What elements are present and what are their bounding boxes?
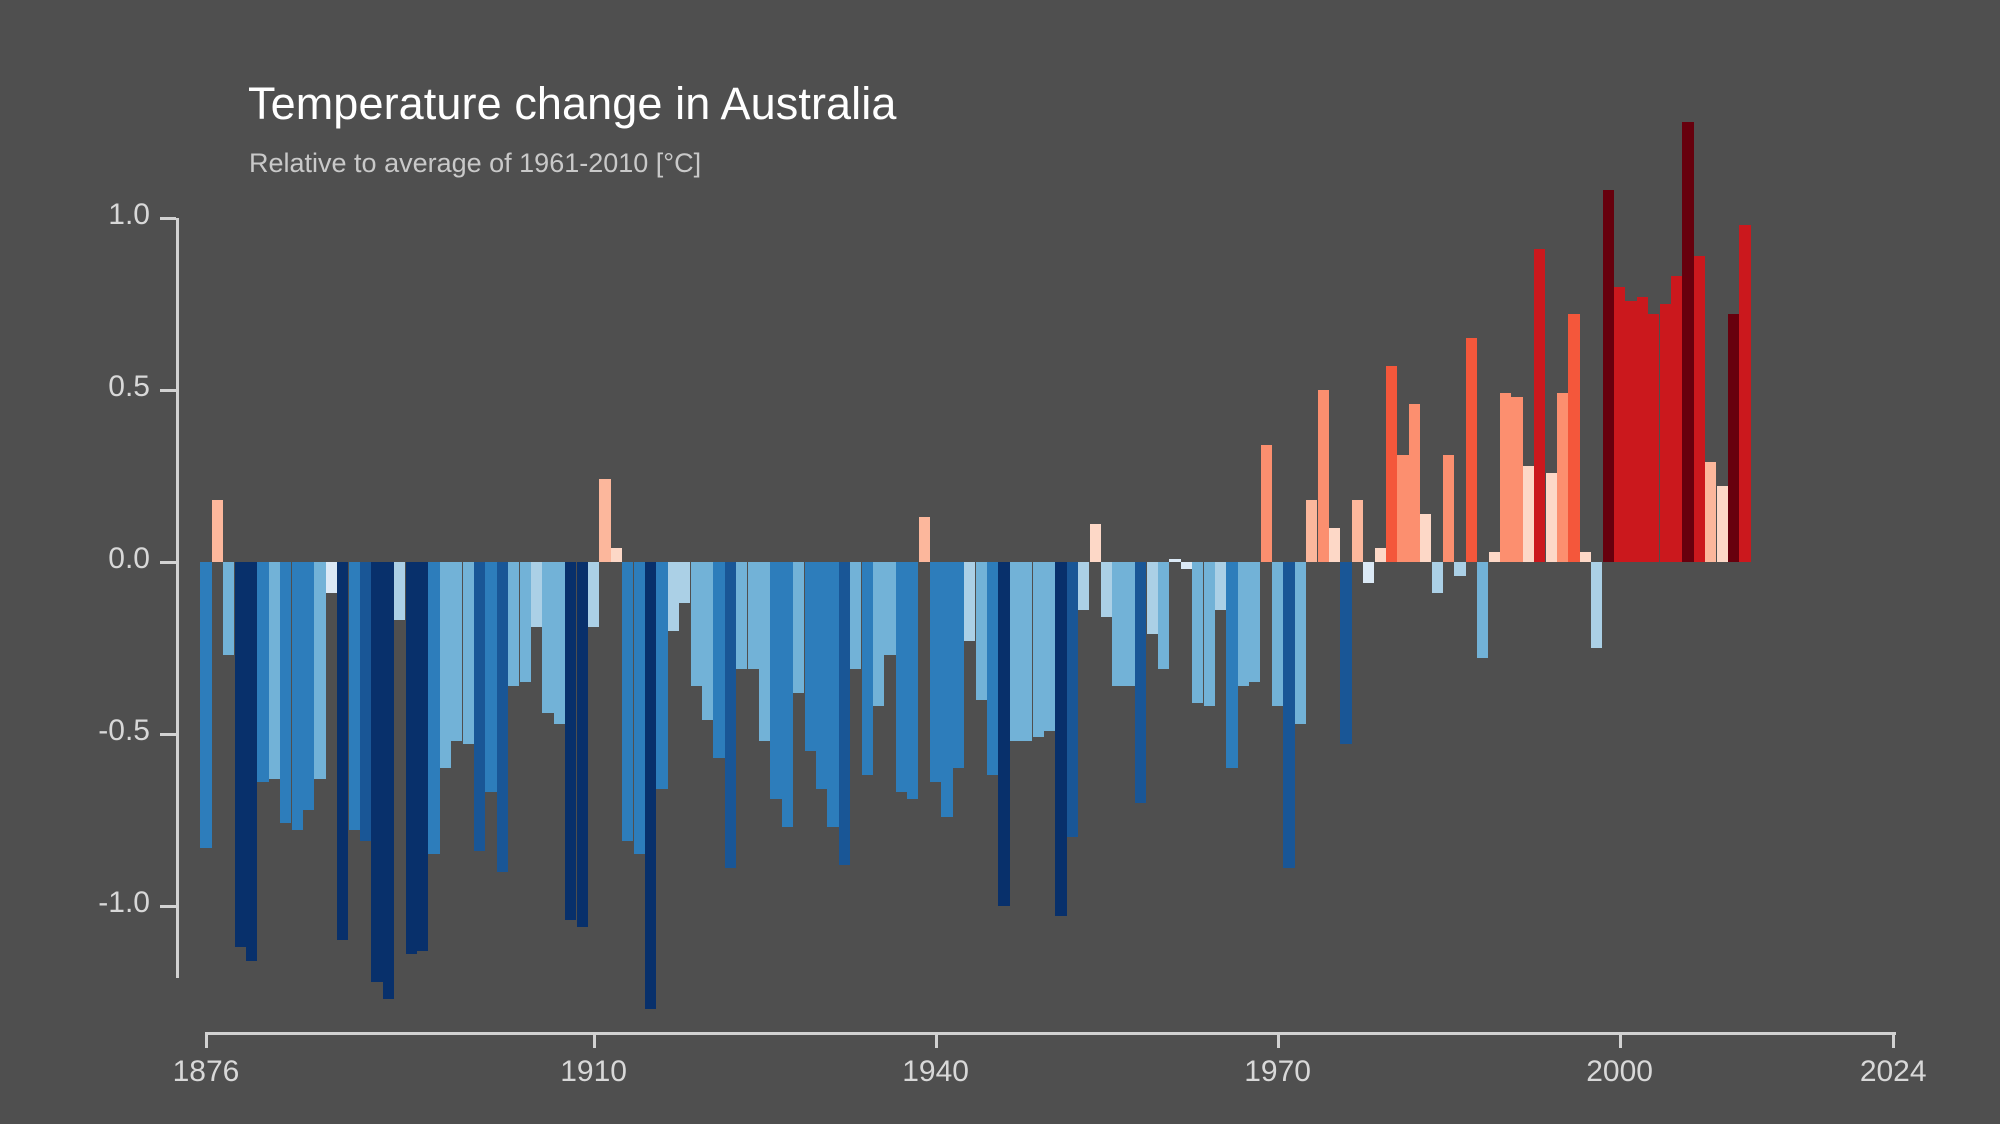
bar-2004 — [1660, 304, 1671, 562]
bar-1880 — [246, 562, 257, 961]
bar-1963 — [1192, 562, 1203, 703]
bar-1950 — [1044, 562, 1055, 731]
x-tick-2024 — [1892, 1032, 1895, 1048]
bar-1885 — [303, 562, 314, 810]
x-tick-label-1910: 1910 — [560, 1055, 627, 1089]
bar-1905 — [531, 562, 542, 627]
bar-1979 — [1375, 548, 1386, 562]
bar-1959 — [1147, 562, 1158, 634]
y-tick-label-0.5: 0.5 — [0, 370, 150, 404]
bar-1975 — [1329, 528, 1340, 562]
bar-1922 — [725, 562, 736, 868]
bar-1955 — [1101, 562, 1112, 617]
bar-1944 — [976, 562, 987, 700]
bar-1923 — [736, 562, 747, 669]
bar-1988 — [1477, 562, 1488, 658]
bar-1902 — [497, 562, 508, 872]
bar-1983 — [1420, 514, 1431, 562]
bar-1980 — [1386, 366, 1397, 562]
bar-1948 — [1021, 562, 1032, 741]
bar-1917 — [668, 562, 679, 631]
bar-1913 — [622, 562, 633, 841]
bar-1999 — [1603, 190, 1614, 562]
bar-1993 — [1534, 249, 1545, 562]
bar-1878 — [223, 562, 234, 655]
bar-1883 — [280, 562, 291, 823]
bar-1903 — [508, 562, 519, 686]
bar-1998 — [1591, 562, 1602, 648]
bar-1931 — [827, 562, 838, 827]
bar-1969 — [1261, 445, 1272, 562]
bar-1912 — [611, 548, 622, 562]
bar-1891 — [371, 562, 382, 982]
bar-1881 — [257, 562, 268, 782]
bar-1990 — [1500, 393, 1511, 562]
y-tick-label-0.0: 0.0 — [0, 542, 150, 576]
bar-2011 — [1739, 225, 1750, 562]
bar-1996 — [1568, 314, 1579, 562]
y-tick-1.0 — [160, 217, 176, 220]
bar-1925 — [759, 562, 770, 741]
bar-1897 — [440, 562, 451, 768]
bar-1974 — [1318, 390, 1329, 562]
bar-1884 — [292, 562, 303, 830]
bar-1960 — [1158, 562, 1169, 669]
bar-1943 — [964, 562, 975, 641]
x-tick-1876 — [205, 1032, 208, 1048]
bar-1932 — [839, 562, 850, 865]
bar-1953 — [1078, 562, 1089, 610]
bar-1916 — [656, 562, 667, 789]
bar-1965 — [1215, 562, 1226, 610]
bar-1981 — [1397, 455, 1408, 562]
bar-1898 — [451, 562, 462, 741]
bar-1958 — [1135, 562, 1146, 803]
y-tick-label--1.0: -1.0 — [0, 886, 150, 920]
bar-1929 — [805, 562, 816, 751]
bar-1938 — [907, 562, 918, 799]
bar-1933 — [850, 562, 861, 669]
bar-1949 — [1033, 562, 1044, 737]
bar-1957 — [1124, 562, 1135, 686]
bar-1997 — [1580, 552, 1591, 562]
bar-1906 — [542, 562, 553, 713]
bar-1954 — [1090, 524, 1101, 562]
bar-1970 — [1272, 562, 1283, 706]
bar-2002 — [1637, 297, 1648, 562]
bar-1926 — [770, 562, 781, 799]
bar-1904 — [520, 562, 531, 682]
bar-1966 — [1226, 562, 1237, 768]
bar-1968 — [1249, 562, 1260, 682]
bar-1910 — [588, 562, 599, 627]
bar-1879 — [235, 562, 246, 947]
bar-1986 — [1454, 562, 1465, 576]
x-tick-1910 — [593, 1032, 596, 1048]
bar-1895 — [417, 562, 428, 951]
bar-1952 — [1067, 562, 1078, 837]
bar-1956 — [1112, 562, 1123, 686]
bar-1937 — [896, 562, 907, 792]
y-tick-label--0.5: -0.5 — [0, 714, 150, 748]
bar-1928 — [793, 562, 804, 693]
bar-1889 — [349, 562, 360, 830]
bar-1921 — [713, 562, 724, 758]
bar-1886 — [314, 562, 325, 779]
bar-1946 — [998, 562, 1009, 906]
bar-1914 — [634, 562, 645, 854]
bar-1909 — [577, 562, 588, 927]
bar-1987 — [1466, 338, 1477, 562]
bar-2008 — [1705, 462, 1716, 562]
x-tick-2000 — [1619, 1032, 1622, 1048]
bar-1924 — [748, 562, 759, 669]
bar-1962 — [1181, 562, 1192, 569]
bar-1892 — [383, 562, 394, 999]
bar-1888 — [337, 562, 348, 940]
bar-1985 — [1443, 455, 1454, 562]
y-axis-spine — [176, 218, 179, 978]
bar-1941 — [941, 562, 952, 817]
bar-2006 — [1682, 122, 1693, 562]
bar-1940 — [930, 562, 941, 782]
bar-1899 — [463, 562, 474, 744]
bar-1945 — [987, 562, 998, 775]
bar-1877 — [212, 500, 223, 562]
bar-1915 — [645, 562, 656, 1009]
bar-1918 — [679, 562, 690, 603]
bar-1951 — [1055, 562, 1066, 916]
bar-1930 — [816, 562, 827, 789]
bar-1920 — [702, 562, 713, 720]
x-tick-label-2024: 2024 — [1860, 1055, 1927, 1089]
bar-1935 — [873, 562, 884, 706]
x-tick-label-1970: 1970 — [1244, 1055, 1311, 1089]
bar-2003 — [1648, 314, 1659, 562]
bar-1982 — [1409, 404, 1420, 562]
bar-1908 — [565, 562, 576, 920]
bar-1984 — [1432, 562, 1443, 593]
bar-1947 — [1010, 562, 1021, 741]
bar-1901 — [485, 562, 496, 792]
bar-1964 — [1204, 562, 1215, 706]
bar-2000 — [1614, 287, 1625, 562]
bar-1911 — [599, 479, 610, 562]
bar-1991 — [1511, 397, 1522, 562]
bar-1919 — [691, 562, 702, 686]
bar-1995 — [1557, 393, 1568, 562]
y-tick-0.0 — [160, 561, 176, 564]
chart-figure: Temperature change in Australia Relative… — [0, 0, 2000, 1124]
bar-1939 — [919, 517, 930, 562]
bar-1992 — [1523, 466, 1534, 562]
bar-1989 — [1489, 552, 1500, 562]
bar-2001 — [1625, 301, 1636, 562]
bar-1976 — [1340, 562, 1351, 744]
bar-1900 — [474, 562, 485, 851]
bar-1961 — [1169, 559, 1180, 562]
bar-1942 — [953, 562, 964, 768]
x-tick-1970 — [1277, 1032, 1280, 1048]
plot-area — [0, 0, 2000, 1124]
bar-1890 — [360, 562, 371, 841]
bar-1927 — [782, 562, 793, 827]
bar-1978 — [1363, 562, 1374, 583]
bar-1896 — [428, 562, 439, 854]
bar-1994 — [1546, 473, 1557, 562]
bar-1977 — [1352, 500, 1363, 562]
x-tick-label-1876: 1876 — [173, 1055, 240, 1089]
bar-1882 — [269, 562, 280, 779]
y-tick--0.5 — [160, 733, 176, 736]
bar-1971 — [1283, 562, 1294, 868]
bar-1973 — [1306, 500, 1317, 562]
bar-2007 — [1694, 256, 1705, 562]
x-axis-spine — [206, 1032, 1896, 1035]
bar-1936 — [884, 562, 895, 655]
bar-1972 — [1295, 562, 1306, 724]
bar-1887 — [326, 562, 337, 593]
y-tick-0.5 — [160, 389, 176, 392]
bar-1893 — [394, 562, 405, 620]
bar-1876 — [200, 562, 211, 848]
bar-2010 — [1728, 314, 1739, 562]
y-tick-label-1.0: 1.0 — [0, 198, 150, 232]
bar-2005 — [1671, 276, 1682, 562]
x-tick-1940 — [935, 1032, 938, 1048]
bar-1894 — [406, 562, 417, 954]
bar-1967 — [1238, 562, 1249, 686]
bar-1934 — [862, 562, 873, 775]
bar-1907 — [554, 562, 565, 724]
x-tick-label-1940: 1940 — [902, 1055, 969, 1089]
bar-2009 — [1717, 486, 1728, 562]
y-tick--1.0 — [160, 905, 176, 908]
x-tick-label-2000: 2000 — [1586, 1055, 1653, 1089]
